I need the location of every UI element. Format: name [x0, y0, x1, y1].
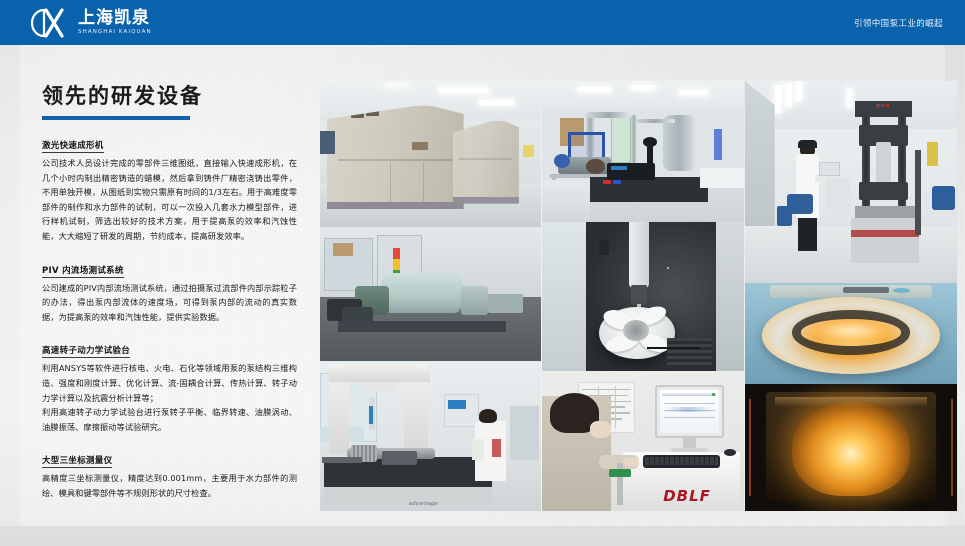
header-tagline: 引领中国泵工业的崛起	[854, 17, 943, 29]
photo-cmm-inspection: advantage	[320, 361, 541, 511]
section-heading: 高速转子动力学试验台	[42, 344, 130, 358]
photo-laser-sintering-machine	[320, 81, 541, 227]
brand-name-en: SHANGHAI KAIQUAN	[78, 28, 152, 36]
section-piv-flow-field-test: PIV 内流场测试系统 公司建成的PIV内部流场测试系统，通过拍摄泵过流部件内部…	[42, 258, 297, 325]
section-body: 公司建成的PIV内部流场测试系统，通过拍摄泵过流部件内部示踪粒子的办法，得出泵内…	[42, 281, 297, 325]
cmm-brand-label: advantage	[408, 501, 437, 507]
title-underline-rule	[42, 116, 190, 120]
section-body: 公司技术人员设计完成的零部件三维图纸，直接输入快速成形机，在几个小时内制出精密铸…	[42, 156, 297, 244]
tensile-brand-label: pun	[876, 103, 890, 109]
photo-piv-test-rig	[542, 81, 744, 222]
section-heading: 大型三坐标测量仪	[42, 454, 112, 468]
section-laser-rapid-prototyping: 激光快速成形机 公司技术人员设计完成的零部件三维图纸，直接输入快速成形机，在几个…	[42, 133, 297, 244]
section-heading: PIV 内流场测试系统	[42, 264, 124, 278]
page-title: 领先的研发设备	[42, 83, 297, 109]
photo-glow-specimen-bore	[745, 384, 957, 511]
section-body: 利用ANSYS等软件进行核电、火电、石化等领域用泵的泵结构三维构造、强度和刚度计…	[42, 361, 297, 434]
kaiquan-logo-icon	[28, 7, 70, 39]
brand-text: 上海凯泉 SHANGHAI KAIQUAN	[78, 9, 152, 36]
photo-mosaic: advantage	[320, 81, 957, 511]
brand-name-cn: 上海凯泉	[78, 9, 152, 28]
section-body: 高精度三坐标测量仪，精度达到0.001mm，主要用于水力部件的测绘、模具和键零部…	[42, 471, 297, 500]
page-header: 上海凯泉 SHANGHAI KAIQUAN 引领中国泵工业的崛起	[0, 0, 965, 45]
brand-logo[interactable]: 上海凯泉 SHANGHAI KAIQUAN	[28, 7, 152, 39]
photo-tensile-testing-machine: pun	[745, 81, 957, 283]
section-large-cmm: 大型三坐标测量仪 高精度三坐标测量仪，精度达到0.001mm，主要用于水力部件的…	[42, 448, 297, 500]
slide-body: 领先的研发设备 激光快速成形机 公司技术人员设计完成的零部件三维图纸，直接输入快…	[0, 45, 965, 536]
console-brand-label: DBLF	[663, 487, 711, 505]
slide-bottom-strip	[0, 526, 965, 536]
photo-rotor-dynamics-bench	[320, 227, 541, 361]
photo-operator-console: DBLF	[542, 371, 744, 511]
photo-impeller-probe	[542, 222, 744, 371]
slide-page: 上海凯泉 SHANGHAI KAIQUAN 引领中国泵工业的崛起 领先的研发设备…	[0, 0, 965, 546]
text-column: 领先的研发设备 激光快速成形机 公司技术人员设计完成的零部件三维图纸，直接输入快…	[42, 83, 297, 515]
section-high-speed-rotor-dynamics-bench: 高速转子动力学试验台 利用ANSYS等软件进行核电、火电、石化等领域用泵的泵结构…	[42, 338, 297, 434]
section-heading: 激光快速成形机	[42, 139, 104, 153]
photo-glow-specimen-top	[745, 283, 957, 384]
